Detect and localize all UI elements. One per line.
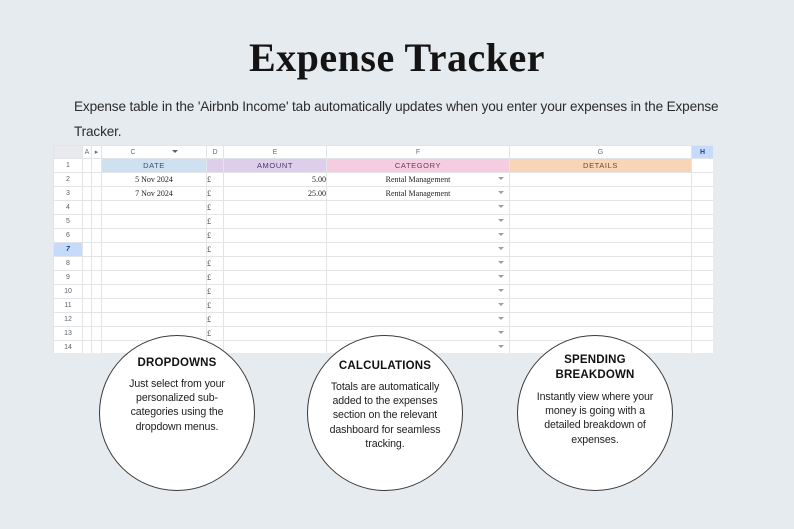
cell-currency-10[interactable]: £ — [207, 285, 224, 299]
row-number-10[interactable]: 10 — [54, 285, 83, 299]
cell-category-4[interactable] — [327, 201, 510, 215]
table-row: 5£ — [54, 215, 714, 229]
chevron-down-icon[interactable] — [498, 317, 504, 320]
cell-h7[interactable] — [692, 243, 714, 257]
cell-amount-4[interactable] — [224, 201, 327, 215]
cell-details-4[interactable] — [510, 201, 692, 215]
cell-h4[interactable] — [692, 201, 714, 215]
row-number-3[interactable]: 3 — [54, 187, 83, 201]
cell-currency-3[interactable]: £ — [207, 187, 224, 201]
filter-dropdown-icon[interactable] — [172, 150, 178, 153]
column-header-c[interactable]: C — [102, 146, 207, 159]
cell-a6[interactable] — [83, 229, 92, 243]
chevron-down-icon[interactable] — [498, 303, 504, 306]
cell-category-3[interactable]: Rental Management — [327, 187, 510, 201]
chevron-down-icon[interactable] — [498, 219, 504, 222]
cell-category-11[interactable] — [327, 299, 510, 313]
chevron-down-icon[interactable] — [498, 191, 504, 194]
cell-a12[interactable] — [83, 313, 92, 327]
feature-title: SPENDING BREAKDOWN — [534, 353, 656, 383]
row-number-14[interactable]: 14 — [54, 341, 83, 354]
cell-details-11[interactable] — [510, 299, 692, 313]
cell-date-5[interactable] — [102, 215, 207, 229]
cell-currency-11[interactable]: £ — [207, 299, 224, 313]
table-row: 37 Nov 2024£25.00Rental Management — [54, 187, 714, 201]
cell-details-12[interactable] — [510, 313, 692, 327]
row-number-9[interactable]: 9 — [54, 271, 83, 285]
cell-h12[interactable] — [692, 313, 714, 327]
cell-b9[interactable] — [92, 271, 102, 285]
row-number-12[interactable]: 12 — [54, 313, 83, 327]
row-number-2[interactable]: 2 — [54, 173, 83, 187]
row-number-1[interactable]: 1 — [54, 159, 83, 173]
chevron-down-icon[interactable] — [498, 331, 504, 334]
cell-currency-12[interactable]: £ — [207, 313, 224, 327]
cell-b6[interactable] — [92, 229, 102, 243]
feature-body: Totals are automatically added to the ex… — [324, 380, 446, 451]
table-row: 12£ — [54, 313, 714, 327]
column-header-h[interactable]: H — [692, 146, 714, 159]
cell-b13[interactable] — [92, 327, 102, 341]
row-number-7[interactable]: 7 — [54, 243, 83, 257]
cell-b5[interactable] — [92, 215, 102, 229]
cell-a10[interactable] — [83, 285, 92, 299]
cell-a5[interactable] — [83, 215, 92, 229]
table-row: 9£ — [54, 271, 714, 285]
chevron-down-icon[interactable] — [498, 233, 504, 236]
cell-details-3[interactable] — [510, 187, 692, 201]
table-row: 10£ — [54, 285, 714, 299]
cell-h11[interactable] — [692, 299, 714, 313]
cell-b10[interactable] — [92, 285, 102, 299]
cell-b12[interactable] — [92, 313, 102, 327]
cell-category-7[interactable] — [327, 243, 510, 257]
row-number-8[interactable]: 8 — [54, 257, 83, 271]
cell-details-8[interactable] — [510, 257, 692, 271]
cell-b2[interactable] — [92, 173, 102, 187]
cell-h1[interactable] — [692, 159, 714, 173]
cell-currency-6[interactable]: £ — [207, 229, 224, 243]
column-header-c-label: C — [130, 149, 135, 156]
cell-category-9[interactable] — [327, 271, 510, 285]
cell-amount-3[interactable]: 25.00 — [224, 187, 327, 201]
cell-currency-4[interactable]: £ — [207, 201, 224, 215]
cell-b3[interactable] — [92, 187, 102, 201]
cell-amount-2[interactable]: 5.00 — [224, 173, 327, 187]
cell-a2[interactable] — [83, 173, 92, 187]
cell-date-7[interactable] — [102, 243, 207, 257]
spreadsheet[interactable]: A ▸ C D E F G H 1 DATE AMOUNT CATEGORY D… — [53, 145, 713, 353]
chevron-down-icon[interactable] — [498, 205, 504, 208]
cell-category-13[interactable] — [327, 327, 510, 341]
cell-amount-6[interactable] — [224, 229, 327, 243]
cell-a9[interactable] — [83, 271, 92, 285]
cell-date-11[interactable] — [102, 299, 207, 313]
page-subtitle: Expense table in the 'Airbnb Income' tab… — [74, 94, 722, 144]
cell-a4[interactable] — [83, 201, 92, 215]
cell-details-5[interactable] — [510, 215, 692, 229]
column-header-e[interactable]: E — [224, 146, 327, 159]
cell-date-9[interactable] — [102, 271, 207, 285]
spreadsheet-table: A ▸ C D E F G H 1 DATE AMOUNT CATEGORY D… — [53, 145, 713, 353]
feature-title: DROPDOWNS — [137, 356, 216, 371]
cell-h6[interactable] — [692, 229, 714, 243]
page-title: Expense Tracker — [0, 34, 794, 81]
feature-circle-dropdowns: DROPDOWNS Just select from your personal… — [99, 335, 255, 491]
cell-b7[interactable] — [92, 243, 102, 257]
cell-h9[interactable] — [692, 271, 714, 285]
table-row: 7£ — [54, 243, 714, 257]
cell-b1[interactable] — [92, 159, 102, 173]
header-cell-category[interactable]: CATEGORY — [327, 159, 510, 173]
cell-category-6[interactable] — [327, 229, 510, 243]
cell-details-7[interactable] — [510, 243, 692, 257]
cell-h8[interactable] — [692, 257, 714, 271]
cell-a8[interactable] — [83, 257, 92, 271]
cell-category-2[interactable]: Rental Management — [327, 173, 510, 187]
cell-h2[interactable] — [692, 173, 714, 187]
cell-date-8[interactable] — [102, 257, 207, 271]
header-cell-amount-currency[interactable] — [207, 159, 224, 173]
chevron-down-icon[interactable] — [498, 275, 504, 278]
cell-date-3[interactable]: 7 Nov 2024 — [102, 187, 207, 201]
cell-b4[interactable] — [92, 201, 102, 215]
chevron-down-icon[interactable] — [498, 261, 504, 264]
cell-a13[interactable] — [83, 327, 92, 341]
cell-h14[interactable] — [692, 341, 714, 354]
cell-details-9[interactable] — [510, 271, 692, 285]
row-number-5[interactable]: 5 — [54, 215, 83, 229]
cell-a11[interactable] — [83, 299, 92, 313]
feature-body: Just select from your personalized sub-c… — [116, 377, 238, 434]
column-header-b[interactable]: ▸ — [92, 146, 102, 159]
row-number-11[interactable]: 11 — [54, 299, 83, 313]
cell-category-10[interactable] — [327, 285, 510, 299]
table-row: 8£ — [54, 257, 714, 271]
cell-date-2[interactable]: 5 Nov 2024 — [102, 173, 207, 187]
column-header-row: A ▸ C D E F G H — [54, 146, 714, 159]
cell-currency-5[interactable]: £ — [207, 215, 224, 229]
cell-date-10[interactable] — [102, 285, 207, 299]
row-number-6[interactable]: 6 — [54, 229, 83, 243]
cell-h5[interactable] — [692, 215, 714, 229]
cell-category-8[interactable] — [327, 257, 510, 271]
cell-a3[interactable] — [83, 187, 92, 201]
cell-a1[interactable] — [83, 159, 92, 173]
header-cell-amount[interactable]: AMOUNT — [224, 159, 327, 173]
feature-body: Instantly view where your money is going… — [534, 390, 656, 447]
cell-amount-11[interactable] — [224, 299, 327, 313]
cell-amount-12[interactable] — [224, 313, 327, 327]
cell-h13[interactable] — [692, 327, 714, 341]
cell-amount-8[interactable] — [224, 257, 327, 271]
table-row: 11£ — [54, 299, 714, 313]
chevron-down-icon[interactable] — [498, 247, 504, 250]
cell-currency-8[interactable]: £ — [207, 257, 224, 271]
cell-amount-9[interactable] — [224, 271, 327, 285]
cell-details-10[interactable] — [510, 285, 692, 299]
feature-circle-spending-breakdown: SPENDING BREAKDOWN Instantly view where … — [517, 335, 673, 491]
row-number-4[interactable]: 4 — [54, 201, 83, 215]
feature-circle-calculations: CALCULATIONS Totals are automatically ad… — [307, 335, 463, 491]
cell-currency-13[interactable]: £ — [207, 327, 224, 341]
cell-currency-7[interactable]: £ — [207, 243, 224, 257]
spreadsheet-body: 25 Nov 2024£5.00Rental Management37 Nov … — [54, 173, 714, 354]
feature-title: CALCULATIONS — [339, 359, 431, 374]
chevron-down-icon[interactable] — [498, 177, 504, 180]
table-row: 1 DATE AMOUNT CATEGORY DETAILS — [54, 159, 714, 173]
cell-amount-10[interactable] — [224, 285, 327, 299]
cell-amount-7[interactable] — [224, 243, 327, 257]
expense-tracker-page: Expense Tracker Expense table in the 'Ai… — [0, 0, 794, 529]
select-all-corner[interactable] — [54, 146, 83, 159]
cell-date-4[interactable] — [102, 201, 207, 215]
cell-category-12[interactable] — [327, 313, 510, 327]
cell-date-12[interactable] — [102, 313, 207, 327]
cell-b14[interactable] — [92, 341, 102, 354]
row-number-13[interactable]: 13 — [54, 327, 83, 341]
cell-details-2[interactable] — [510, 173, 692, 187]
cell-amount-13[interactable] — [224, 327, 327, 341]
cell-h10[interactable] — [692, 285, 714, 299]
cell-amount-14[interactable] — [224, 341, 327, 354]
cell-a7[interactable] — [83, 243, 92, 257]
cell-h3[interactable] — [692, 187, 714, 201]
cell-category-5[interactable] — [327, 215, 510, 229]
cell-date-6[interactable] — [102, 229, 207, 243]
cell-amount-5[interactable] — [224, 215, 327, 229]
header-cell-details[interactable]: DETAILS — [510, 159, 692, 173]
table-row: 6£ — [54, 229, 714, 243]
table-row: 25 Nov 2024£5.00Rental Management — [54, 173, 714, 187]
cell-details-6[interactable] — [510, 229, 692, 243]
cell-b8[interactable] — [92, 257, 102, 271]
column-header-d[interactable]: D — [207, 146, 224, 159]
chevron-down-icon[interactable] — [498, 289, 504, 292]
cell-a14[interactable] — [83, 341, 92, 354]
cell-b11[interactable] — [92, 299, 102, 313]
table-row: 4£ — [54, 201, 714, 215]
column-header-g[interactable]: G — [510, 146, 692, 159]
column-header-a[interactable]: A — [83, 146, 92, 159]
cell-currency-2[interactable]: £ — [207, 173, 224, 187]
cell-currency-9[interactable]: £ — [207, 271, 224, 285]
column-header-f[interactable]: F — [327, 146, 510, 159]
header-cell-date[interactable]: DATE — [102, 159, 207, 173]
chevron-down-icon[interactable] — [498, 345, 504, 348]
